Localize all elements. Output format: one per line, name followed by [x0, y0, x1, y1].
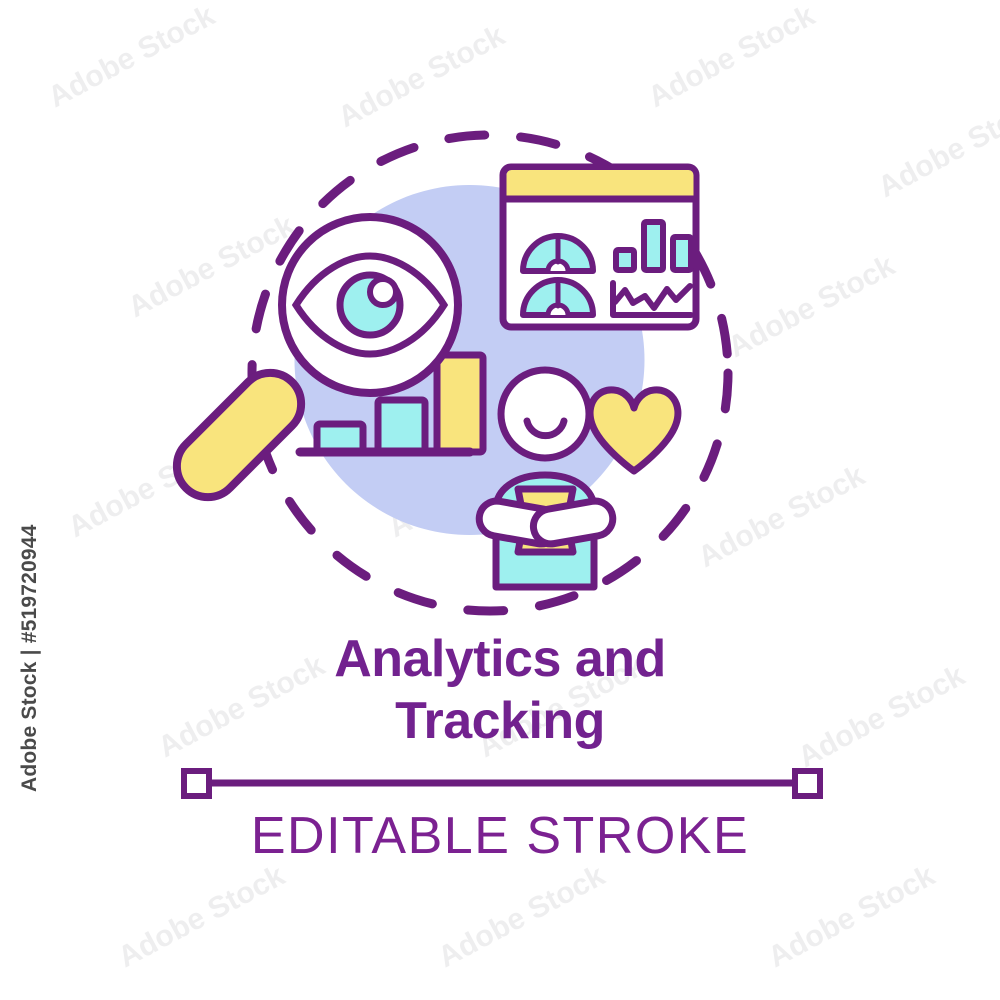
concept-icon-canvas: Adobe Stock Adobe Stock Adobe Stock Adob…	[0, 0, 1000, 1000]
page-title-line-1: Analytics and	[0, 628, 1000, 690]
eye-highlight	[370, 279, 396, 305]
editable-stroke-label: EDITABLE STROKE	[0, 806, 1000, 866]
person-head	[501, 370, 589, 458]
dashboard-window[interactable]	[503, 167, 696, 327]
mini-bar-2	[644, 222, 663, 270]
magnifier-handle	[164, 360, 314, 510]
window-titlebar	[507, 170, 694, 199]
editable-stroke-bar	[184, 771, 820, 796]
stroke-handle-right[interactable]	[795, 771, 820, 796]
page-title-line-2: Tracking	[0, 690, 1000, 752]
page-title: Analytics and Tracking	[0, 628, 1000, 752]
mini-bar-3	[673, 237, 691, 270]
stroke-handle-left[interactable]	[184, 771, 209, 796]
bar-2	[378, 400, 425, 452]
mini-bar-1	[616, 250, 634, 270]
bar-3	[437, 355, 483, 452]
